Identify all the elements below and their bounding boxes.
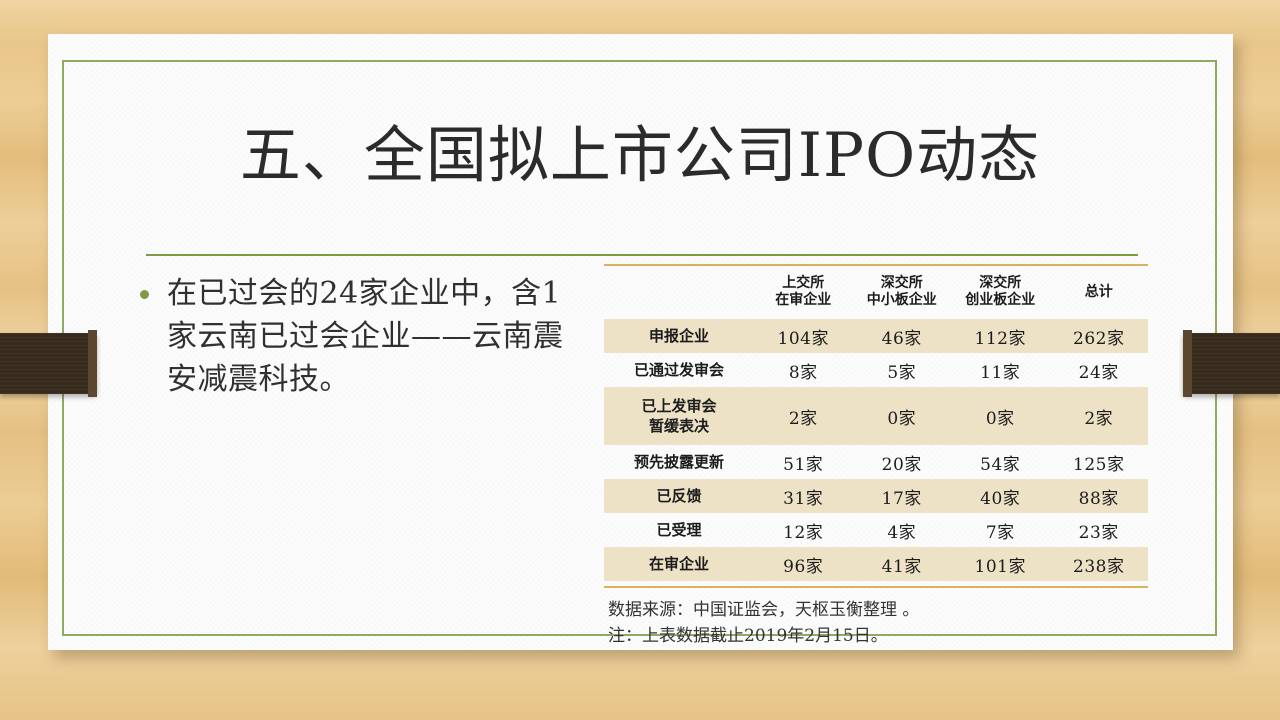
decorative-ribbon-left bbox=[0, 333, 97, 394]
table-header: 上交所 在审企业 深交所 中小板企业 深交所 创业板企业 总计 bbox=[604, 266, 1148, 319]
cell-value: 238家 bbox=[1050, 547, 1149, 581]
title-divider bbox=[146, 254, 1138, 256]
bullet-list: 在已过会的24家企业中，含1家云南已过会企业——云南震安减震科技。 bbox=[140, 272, 570, 401]
table-rule-bottom bbox=[604, 586, 1148, 588]
cell-value: 4家 bbox=[853, 513, 952, 547]
table-header-cell-4: 总计 bbox=[1050, 266, 1149, 319]
cell-value: 40家 bbox=[951, 479, 1050, 513]
cell-value: 12家 bbox=[754, 513, 853, 547]
cell-value: 2家 bbox=[1050, 387, 1149, 445]
bullet-dot-icon bbox=[140, 290, 149, 299]
cell-value: 51家 bbox=[754, 445, 853, 479]
table-header-cell-1: 上交所 在审企业 bbox=[754, 266, 853, 319]
table-row: 已反馈 31家 17家 40家 88家 bbox=[604, 479, 1148, 513]
cell-value: 24家 bbox=[1050, 353, 1149, 387]
row-label: 申报企业 bbox=[604, 319, 754, 353]
cell-value: 54家 bbox=[951, 445, 1050, 479]
table-row: 已通过发审会 8家 5家 11家 24家 bbox=[604, 353, 1148, 387]
table-header-cell-2: 深交所 中小板企业 bbox=[853, 266, 952, 319]
row-label: 在审企业 bbox=[604, 547, 754, 581]
cell-value: 262家 bbox=[1050, 319, 1149, 353]
cell-value: 0家 bbox=[853, 387, 952, 445]
table-body: 申报企业 104家 46家 112家 262家 已通过发审会 8家 5家 11家… bbox=[604, 319, 1148, 581]
cell-value: 96家 bbox=[754, 547, 853, 581]
cell-value: 112家 bbox=[951, 319, 1050, 353]
cell-value: 101家 bbox=[951, 547, 1050, 581]
cell-value: 2家 bbox=[754, 387, 853, 445]
cell-value: 41家 bbox=[853, 547, 952, 581]
cell-value: 125家 bbox=[1050, 445, 1149, 479]
cell-value: 5家 bbox=[853, 353, 952, 387]
cell-value: 11家 bbox=[951, 353, 1050, 387]
ipo-statistics-table: 上交所 在审企业 深交所 中小板企业 深交所 创业板企业 总计 申报企业 104… bbox=[604, 266, 1148, 581]
cell-value: 0家 bbox=[951, 387, 1050, 445]
cell-value: 104家 bbox=[754, 319, 853, 353]
cell-value: 17家 bbox=[853, 479, 952, 513]
row-label: 已通过发审会 bbox=[604, 353, 754, 387]
table-footnotes: 数据来源：中国证监会，天枢玉衡整理 。 注：上表数据截止2019年2月15日。 bbox=[608, 597, 919, 649]
cell-value: 88家 bbox=[1050, 479, 1149, 513]
footnote-source: 数据来源：中国证监会，天枢玉衡整理 。 bbox=[608, 597, 919, 623]
table-row: 在审企业 96家 41家 101家 238家 bbox=[604, 547, 1148, 581]
row-label: 预先披露更新 bbox=[604, 445, 754, 479]
cell-value: 31家 bbox=[754, 479, 853, 513]
ribbon-cap-left bbox=[88, 330, 97, 397]
table-header-cell-0 bbox=[604, 266, 754, 319]
cell-value: 8家 bbox=[754, 353, 853, 387]
table-header-row: 上交所 在审企业 深交所 中小板企业 深交所 创业板企业 总计 bbox=[604, 266, 1148, 319]
table-row: 预先披露更新 51家 20家 54家 125家 bbox=[604, 445, 1148, 479]
cell-value: 20家 bbox=[853, 445, 952, 479]
decorative-ribbon-right bbox=[1183, 333, 1280, 394]
row-label: 已受理 bbox=[604, 513, 754, 547]
ribbon-cap-right bbox=[1183, 330, 1192, 397]
cell-value: 46家 bbox=[853, 319, 952, 353]
table-row: 已受理 12家 4家 7家 23家 bbox=[604, 513, 1148, 547]
row-label: 已反馈 bbox=[604, 479, 754, 513]
bullet-item-text: 在已过会的24家企业中，含1家云南已过会企业——云南震安减震科技。 bbox=[167, 272, 570, 401]
page-title: 五、全国拟上市公司IPO动态 bbox=[0, 118, 1280, 194]
table-header-cell-3: 深交所 创业板企业 bbox=[951, 266, 1050, 319]
table-row: 申报企业 104家 46家 112家 262家 bbox=[604, 319, 1148, 353]
cell-value: 7家 bbox=[951, 513, 1050, 547]
row-label: 已上发审会 暂缓表决 bbox=[604, 387, 754, 445]
cell-value: 23家 bbox=[1050, 513, 1149, 547]
table-row: 已上发审会 暂缓表决 2家 0家 0家 2家 bbox=[604, 387, 1148, 445]
footnote-note: 注：上表数据截止2019年2月15日。 bbox=[608, 623, 919, 649]
